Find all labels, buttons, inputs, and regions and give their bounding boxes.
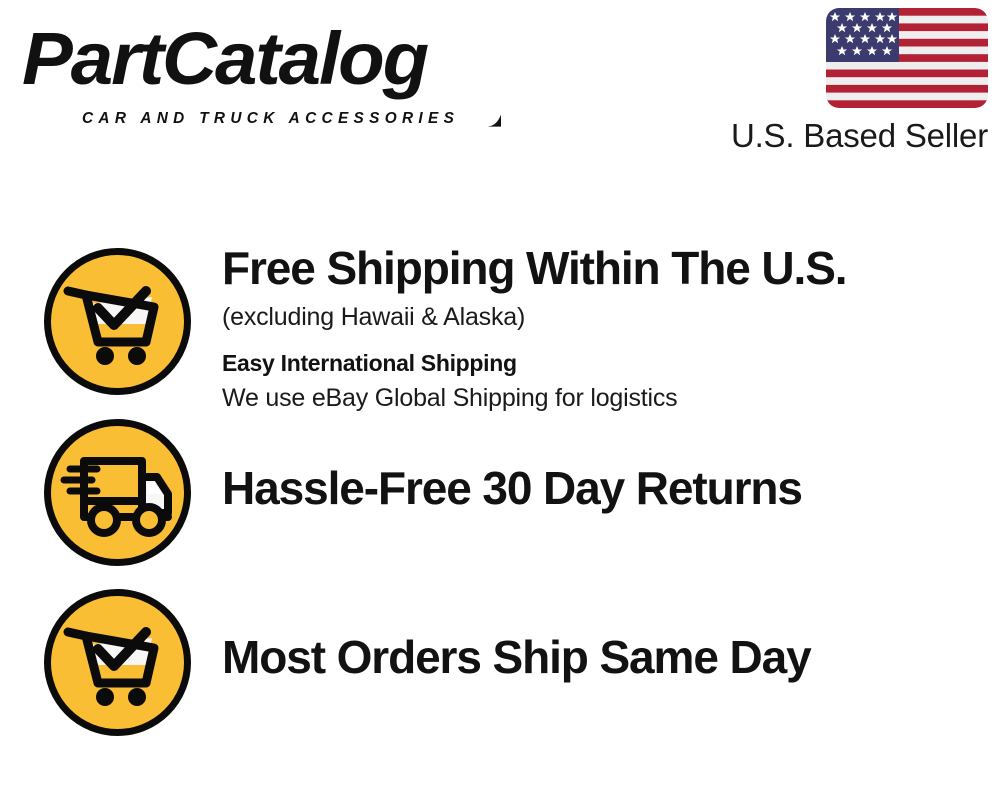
benefit-row-free-shipping: Free Shipping Within The U.S. (excluding… (0, 240, 1000, 408)
benefit-row-same-day-shipping: Most Orders Ship Same Day (0, 587, 1000, 745)
benefit-headline: Most Orders Ship Same Day (222, 629, 980, 685)
international-shipping-desc: We use eBay Global Shipping for logistic… (222, 381, 980, 415)
brand-logo[interactable]: PartCatalog CAR AND TRUCK ACCESSORIES (22, 22, 492, 118)
page-header: PartCatalog CAR AND TRUCK ACCESSORIES (0, 0, 1000, 170)
benefit-text-same-day: Most Orders Ship Same Day (222, 629, 980, 685)
us-flag-block (826, 8, 988, 108)
shopping-cart-check-icon (42, 246, 193, 397)
benefit-text-returns: Hassle-Free 30 Day Returns (222, 460, 980, 516)
us-flag-icon (826, 8, 988, 108)
brand-wordmark: PartCatalog (22, 16, 427, 102)
brand-tagline: CAR AND TRUCK ACCESSORIES (82, 110, 459, 128)
benefit-text-free-shipping: Free Shipping Within The U.S. (excluding… (222, 240, 980, 415)
logo-swash-decoration (440, 114, 502, 128)
benefit-exclusion-note: (excluding Hawaii & Alaska) (222, 300, 980, 334)
shopping-cart-check-icon (42, 587, 193, 738)
benefit-headline: Hassle-Free 30 Day Returns (222, 460, 980, 516)
benefit-headline: Free Shipping Within The U.S. (222, 240, 980, 296)
benefit-row-returns: Hassle-Free 30 Day Returns (0, 415, 1000, 573)
international-shipping-title: Easy International Shipping (222, 346, 980, 380)
us-based-seller-label: U.S. Based Seller (731, 116, 988, 156)
delivery-truck-icon (42, 417, 193, 568)
